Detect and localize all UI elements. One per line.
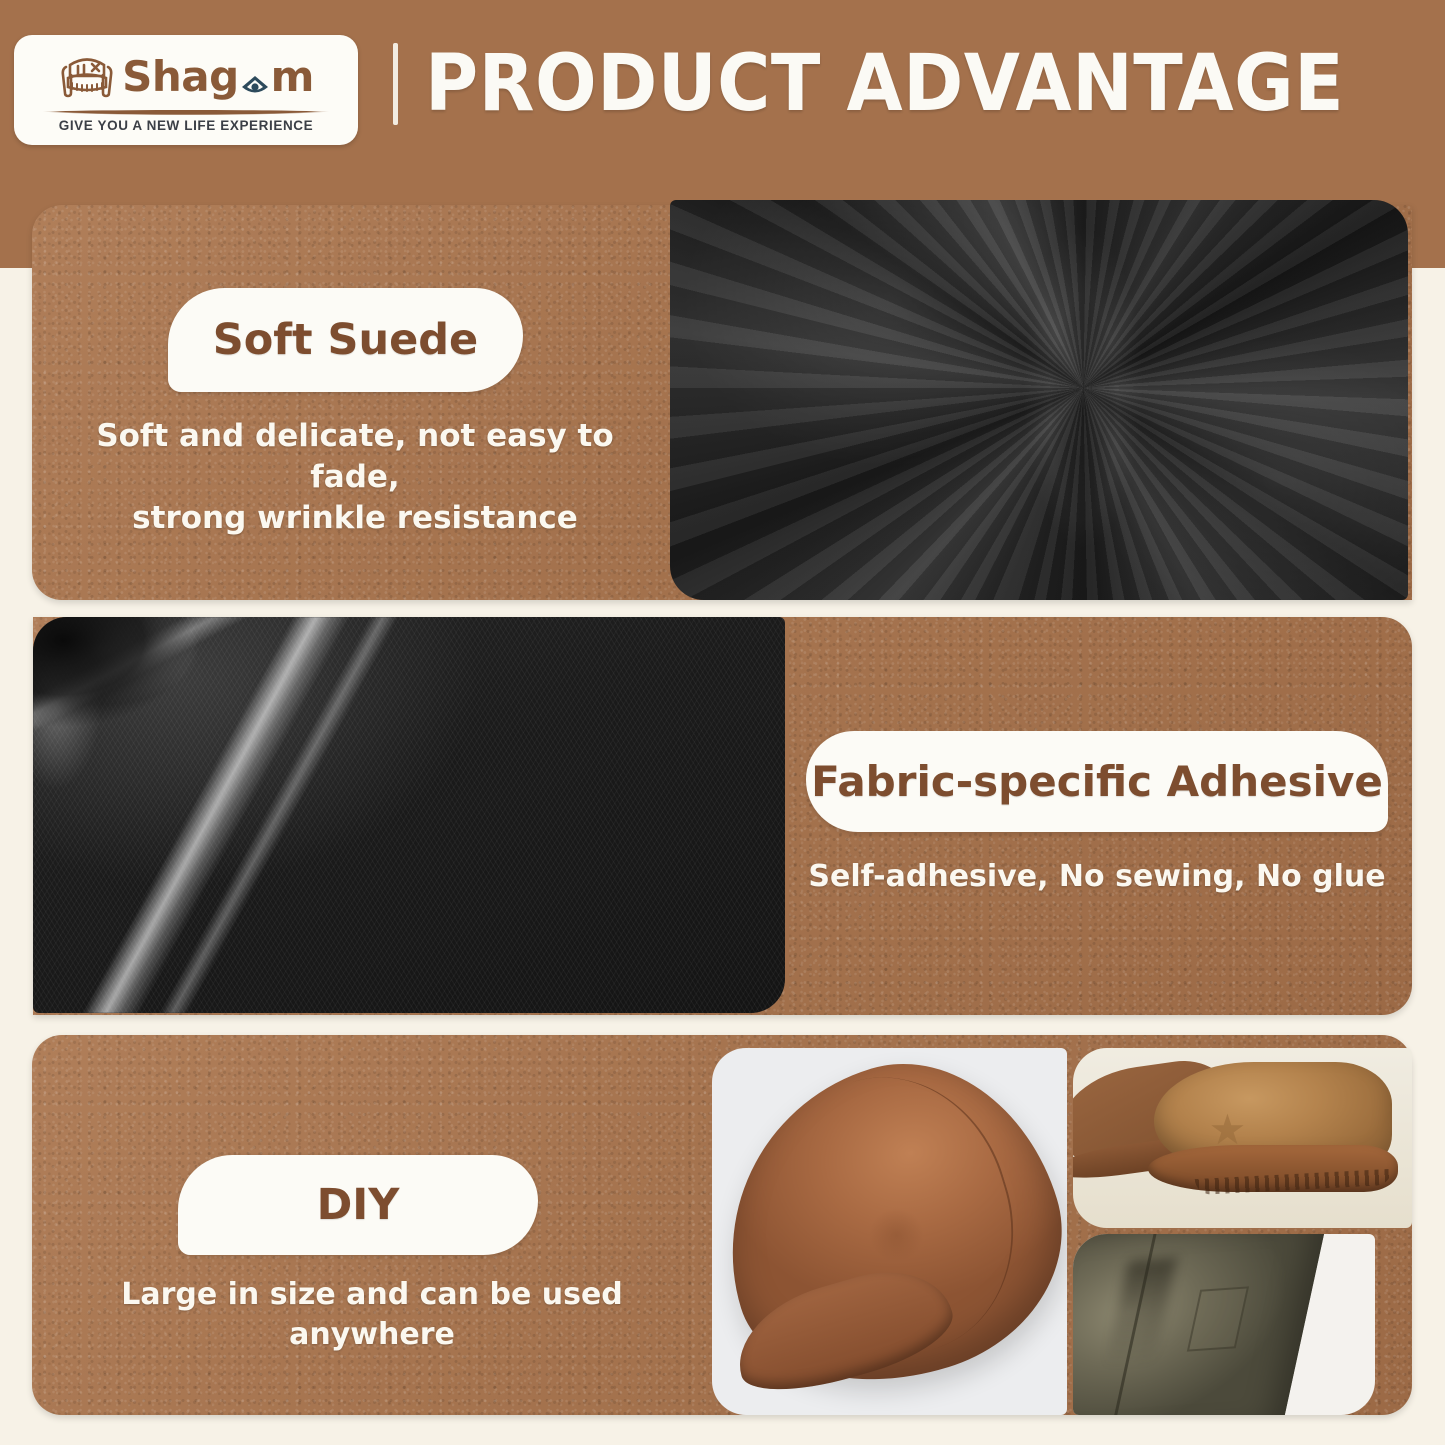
feature-description-soft-suede: Soft and delicate, not easy to fade, str… — [60, 416, 650, 540]
feature-description-adhesive: Self-adhesive, No sewing, No glue — [806, 857, 1388, 897]
page-title: PRODUCT ADVANTAGE — [425, 36, 1344, 132]
soft-suede-photo — [670, 200, 1408, 600]
brand-suffix: m — [271, 56, 314, 98]
cap-emboss-mark — [868, 1209, 925, 1260]
logo-underline-rule — [36, 110, 336, 115]
feature-label-text: DIY — [317, 1184, 400, 1227]
brand-prefix: Shag — [122, 56, 239, 98]
diy-photo-cap — [712, 1048, 1067, 1415]
description-line-1: Soft and delicate, not easy to fade, — [60, 416, 650, 498]
feature-label-soft-suede: Soft Suede — [168, 288, 523, 392]
description-line-2: strong wrinkle resistance — [60, 498, 650, 539]
armchair-icon — [58, 47, 116, 108]
description-line-1: Large in size and can be used anywhere — [48, 1275, 696, 1355]
diy-photo-garment — [1073, 1234, 1375, 1415]
brand-wordmark: Shag m — [122, 56, 314, 98]
feature-label-text: Fabric-specific Adhesive — [811, 761, 1383, 803]
logo-tagline: GIVE YOU A NEW LIFE EXPERIENCE — [59, 118, 314, 133]
description-line-1: Self-adhesive, No sewing, No glue — [806, 857, 1388, 897]
logo-row: Shag m — [24, 45, 348, 109]
diy-photo-boot: ★ — [1073, 1048, 1412, 1228]
header-divider — [393, 43, 398, 125]
feature-description-diy: Large in size and can be used anywhere — [48, 1275, 696, 1355]
eye-o-icon — [240, 66, 270, 96]
feature-label-adhesive: Fabric-specific Adhesive — [806, 731, 1388, 832]
feature-label-text: Soft Suede — [213, 319, 478, 362]
feature-label-diy: DIY — [178, 1155, 538, 1255]
brand-logo-card: Shag m GIVE YOU A NEW LIFE EXPERIENCE — [14, 35, 358, 145]
product-advantage-infographic: Shag m GIVE YOU A NEW LIFE EXPERIENCE PR… — [0, 0, 1445, 1445]
adhesive-photo — [33, 617, 785, 1013]
